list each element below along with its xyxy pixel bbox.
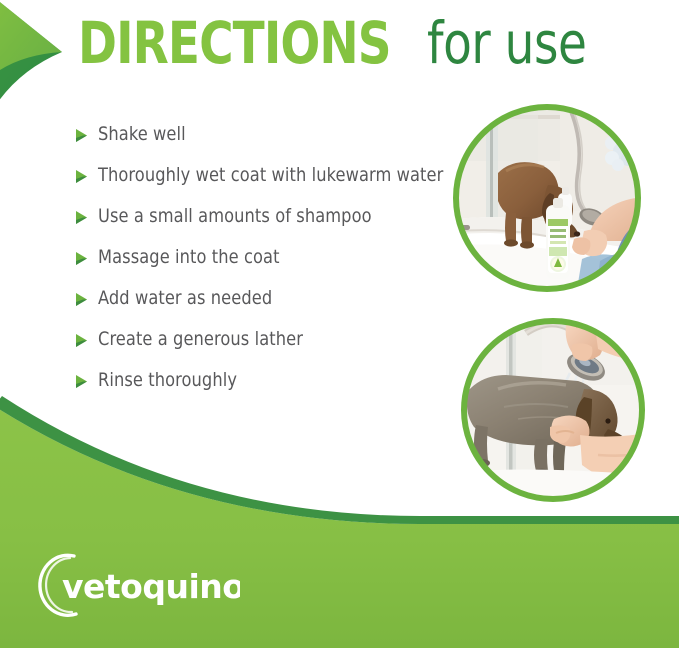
list-item-label: Thoroughly wet coat with lukewarm water	[98, 165, 443, 186]
list-item-label: Create a generous lather	[98, 329, 303, 350]
list-item: Rinse thoroughly	[76, 370, 456, 411]
photo-dog-being-rinsed-with-showerhead	[458, 315, 648, 505]
triangle-right-icon	[76, 375, 88, 388]
triangle-right-icon	[76, 211, 88, 224]
triangle-right-icon	[76, 170, 88, 183]
list-item-label: Use a small amounts of shampoo	[98, 206, 372, 227]
vetoquinol-wordmark: vetoquinoL	[62, 567, 240, 606]
list-item-label: Massage into the coat	[98, 247, 280, 268]
triangle-right-icon	[76, 129, 88, 142]
vetoquinol-logo: vetoquinoL	[30, 546, 240, 624]
list-item: Shake well	[76, 124, 456, 165]
page-title-primary: DIRECTIONS	[78, 14, 391, 72]
list-item: Create a generous lather	[76, 329, 456, 370]
triangle-right-icon	[76, 334, 88, 347]
list-item: Thoroughly wet coat with lukewarm water	[76, 165, 456, 206]
directions-step-list: Shake well Thoroughly wet coat with luke…	[76, 124, 456, 411]
list-item-label: Add water as needed	[98, 288, 272, 309]
list-item: Massage into the coat	[76, 247, 456, 288]
page-title-secondary: for use	[427, 14, 586, 72]
corner-leaf-ornament	[0, 0, 62, 122]
triangle-right-icon	[76, 252, 88, 265]
list-item: Add water as needed	[76, 288, 456, 329]
page-title: DIRECTIONSfor use	[78, 14, 605, 72]
triangle-right-icon	[76, 293, 88, 306]
photo-dog-in-bathtub-with-shampoo	[450, 101, 644, 295]
list-item-label: Shake well	[98, 124, 186, 145]
list-item-label: Rinse thoroughly	[98, 370, 237, 391]
directions-for-use-panel: DIRECTIONSfor use Shake well Thoroughly …	[0, 0, 679, 648]
list-item: Use a small amounts of shampoo	[76, 206, 456, 247]
